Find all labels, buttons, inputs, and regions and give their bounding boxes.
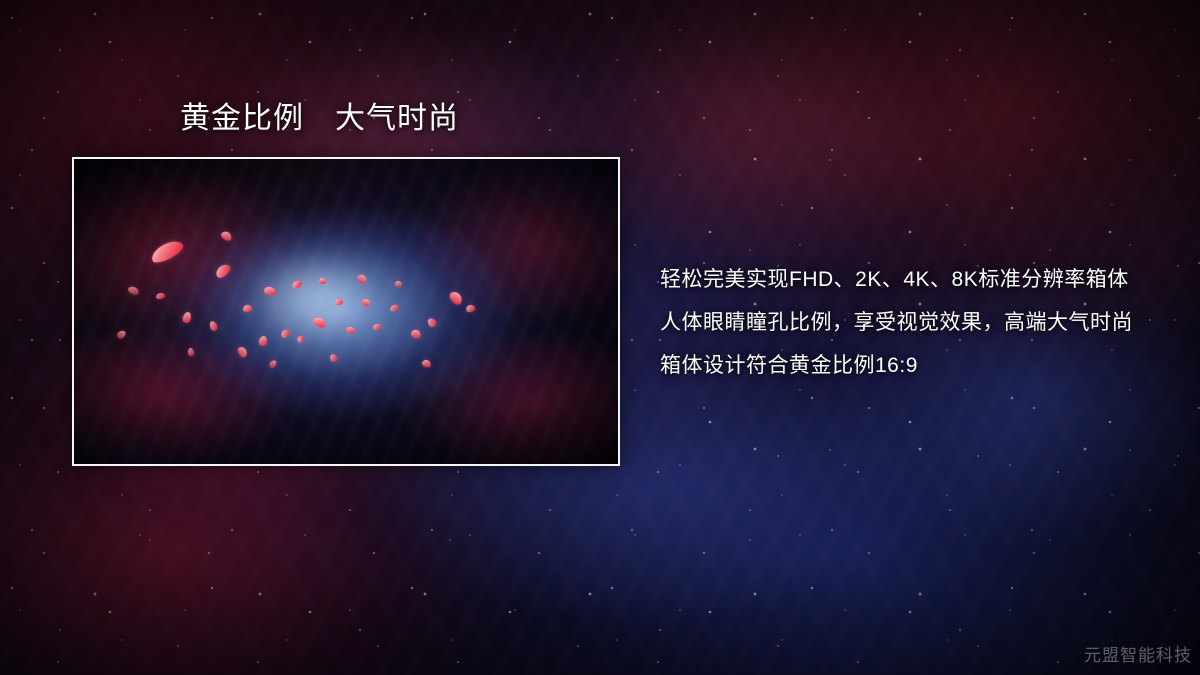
petal xyxy=(181,311,192,324)
body-line-3: 箱体设计符合黄金比例16:9 xyxy=(660,344,1160,387)
petal xyxy=(355,273,368,286)
slide-title: 黄金比例 大气时尚 xyxy=(180,100,459,138)
petal xyxy=(345,325,356,334)
petal xyxy=(155,292,165,300)
petal xyxy=(280,328,291,339)
company-watermark: 元盟智能科技 xyxy=(1084,645,1192,667)
petal xyxy=(421,359,432,369)
screen-nebula-core xyxy=(74,159,618,464)
petal xyxy=(373,323,382,331)
petal xyxy=(264,286,278,297)
petal xyxy=(188,348,195,357)
petal xyxy=(268,359,278,369)
petal xyxy=(242,305,252,313)
petal xyxy=(389,304,400,313)
petal xyxy=(334,298,343,306)
petal xyxy=(149,237,186,266)
petal xyxy=(465,304,476,313)
body-line-1: 轻松完美实现FHD、2K、4K、8K标准分辨率箱体 xyxy=(660,258,1160,301)
petal xyxy=(318,277,326,284)
petal xyxy=(237,345,249,358)
petal xyxy=(220,230,234,243)
petal xyxy=(127,285,140,296)
screen-nebula-base xyxy=(74,159,618,464)
display-screen-frame xyxy=(72,157,620,466)
petal xyxy=(426,316,438,328)
petal xyxy=(394,280,402,287)
petal xyxy=(312,315,328,329)
screen-vignette xyxy=(74,159,618,464)
petal xyxy=(410,328,423,340)
petal xyxy=(328,353,338,363)
petal xyxy=(208,320,218,332)
screen-nebula-wisps xyxy=(74,159,618,464)
petal xyxy=(258,335,268,347)
body-text-block: 轻松完美实现FHD、2K、4K、8K标准分辨率箱体 人体眼睛瞳孔比例，享受视觉效… xyxy=(660,258,1160,387)
petal xyxy=(361,298,372,308)
petal xyxy=(291,279,303,290)
petal xyxy=(448,290,464,307)
presentation-slide: 黄金比例 大气时尚 轻松完美实现FHD、2K、4K、8K标准分辨率箱体 人体眼睛… xyxy=(0,0,1200,675)
body-line-2: 人体眼睛瞳孔比例，享受视觉效果，高端大气时尚 xyxy=(660,301,1160,344)
petal xyxy=(115,329,126,340)
petal xyxy=(296,334,305,343)
petal xyxy=(214,262,233,280)
